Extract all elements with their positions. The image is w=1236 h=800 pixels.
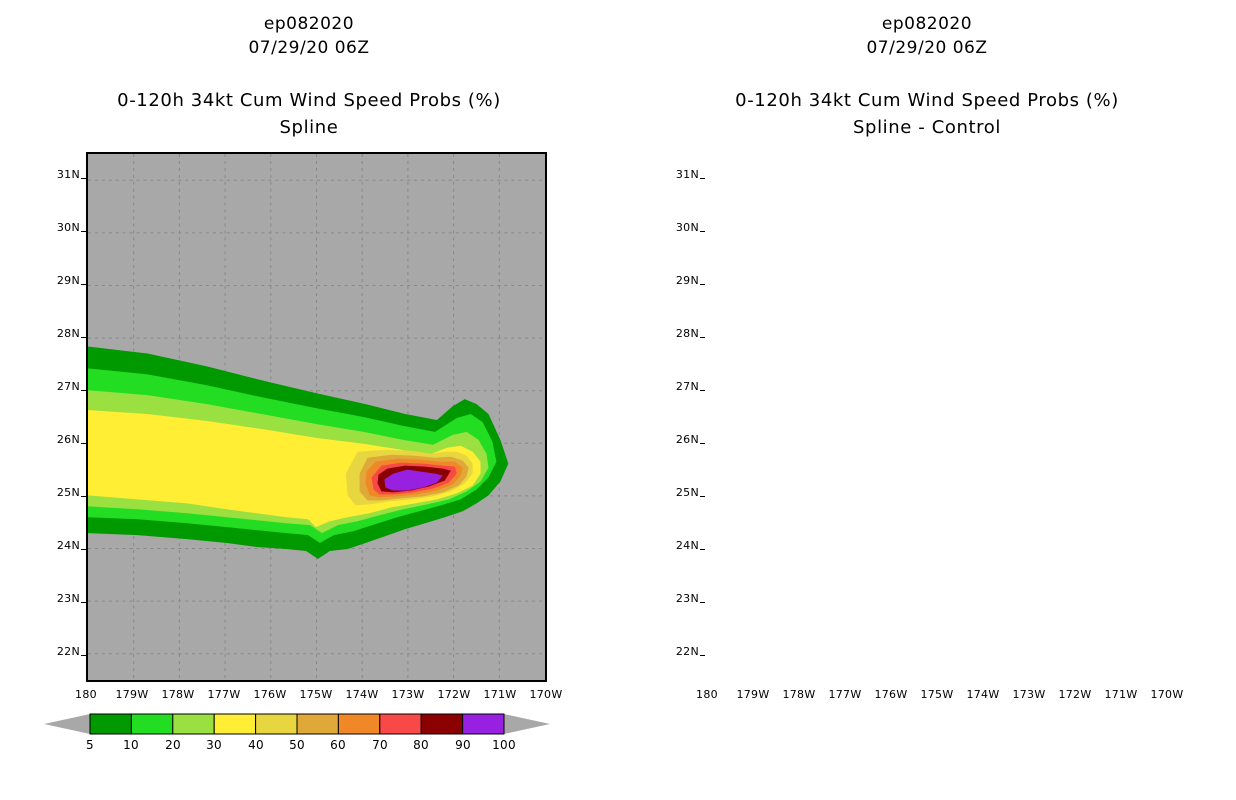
ylabel-right-28n: 28N (653, 327, 699, 340)
ytick-28n (81, 337, 86, 338)
valid-time-right: 07/29/20 06Z (618, 38, 1236, 58)
ylabel-26n: 26N (34, 433, 80, 446)
xlabel-174w: 174W (337, 688, 387, 701)
contour-field-spline (88, 154, 545, 680)
ytick-right-29n (700, 284, 705, 285)
ylabel-right-22n: 22N (653, 645, 699, 658)
cb-tick-40: 40 (236, 738, 276, 752)
ylabel-24n: 24N (34, 539, 80, 552)
cb-tick-20: 20 (153, 738, 193, 752)
cb-tick-30: 30 (194, 738, 234, 752)
plot-subtitle-right: Spline - Control (618, 117, 1236, 138)
xlabel-right-170w: 170W (1142, 688, 1192, 701)
ytick-24n (81, 549, 86, 550)
ylabel-23n: 23N (34, 592, 80, 605)
ytick-25n (81, 496, 86, 497)
xlabel-right-178w: 178W (774, 688, 824, 701)
ytick-right-24n (700, 549, 705, 550)
cb-tick-100: 100 (484, 738, 524, 752)
plot-title-left: 0-120h 34kt Cum Wind Speed Probs (%) (0, 90, 618, 111)
storm-id-right: ep082020 (618, 14, 1236, 34)
xlabel-180: 180 (61, 688, 111, 701)
ytick-right-27n (700, 390, 705, 391)
cb-tick-50: 50 (277, 738, 317, 752)
ylabel-29n: 29N (34, 274, 80, 287)
xlabel-right-175w: 175W (912, 688, 962, 701)
xlabel-177w: 177W (199, 688, 249, 701)
ytick-26n (81, 443, 86, 444)
ylabel-right-30n: 30N (653, 221, 699, 234)
colorbar-swatches-left (44, 712, 550, 736)
ytick-31n (81, 178, 86, 179)
ytick-right-28n (700, 337, 705, 338)
xlabel-172w: 172W (429, 688, 479, 701)
xlabel-right-177w: 177W (820, 688, 870, 701)
cb-tick-70: 70 (360, 738, 400, 752)
map-plot-spline[interactable] (86, 152, 547, 682)
cb-tick-5: 5 (70, 738, 110, 752)
ylabel-right-24n: 24N (653, 539, 699, 552)
ytick-right-31n (700, 178, 705, 179)
xlabel-right-173w: 173W (1004, 688, 1054, 701)
ytick-right-22n (700, 655, 705, 656)
ylabel-right-27n: 27N (653, 380, 699, 393)
plot-title-right: 0-120h 34kt Cum Wind Speed Probs (%) (618, 90, 1236, 111)
xlabel-170w: 170W (521, 688, 571, 701)
panel-spline-minus-control: ep082020 07/29/20 06Z 0-120h 34kt Cum Wi… (618, 0, 1236, 800)
plot-subtitle-left: Spline (0, 117, 618, 138)
ytick-27n (81, 390, 86, 391)
ylabel-31n: 31N (34, 168, 80, 181)
cb-tick-80: 80 (401, 738, 441, 752)
xlabel-right-171w: 171W (1096, 688, 1146, 701)
ylabel-right-26n: 26N (653, 433, 699, 446)
ylabel-right-31n: 31N (653, 168, 699, 181)
ytick-right-26n (700, 443, 705, 444)
ylabel-30n: 30N (34, 221, 80, 234)
ytick-23n (81, 602, 86, 603)
valid-time-left: 07/29/20 06Z (0, 38, 618, 58)
colorbar-probability[interactable]: 5 10 20 30 40 50 60 70 80 90 100 (44, 712, 550, 758)
xlabel-right-176w: 176W (866, 688, 916, 701)
ylabel-28n: 28N (34, 327, 80, 340)
xlabel-right-174w: 174W (958, 688, 1008, 701)
panel-spline: ep082020 07/29/20 06Z 0-120h 34kt Cum Wi… (0, 0, 618, 800)
xlabel-right-180: 180 (682, 688, 732, 701)
ylabel-22n: 22N (34, 645, 80, 658)
xlabel-178w: 178W (153, 688, 203, 701)
xlabel-176w: 176W (245, 688, 295, 701)
ytick-right-25n (700, 496, 705, 497)
ytick-29n (81, 284, 86, 285)
cb-tick-90: 90 (443, 738, 483, 752)
ylabel-25n: 25N (34, 486, 80, 499)
ytick-right-30n (700, 231, 705, 232)
cb-tick-10: 10 (111, 738, 151, 752)
xlabel-179w: 179W (107, 688, 157, 701)
xlabel-right-172w: 172W (1050, 688, 1100, 701)
ytick-right-23n (700, 602, 705, 603)
ylabel-27n: 27N (34, 380, 80, 393)
xlabel-171w: 171W (475, 688, 525, 701)
ylabel-right-25n: 25N (653, 486, 699, 499)
cb-tick-60: 60 (318, 738, 358, 752)
storm-id-left: ep082020 (0, 14, 618, 34)
xlabel-right-179w: 179W (728, 688, 778, 701)
ytick-30n (81, 231, 86, 232)
ytick-22n (81, 655, 86, 656)
ylabel-right-23n: 23N (653, 592, 699, 605)
xlabel-173w: 173W (383, 688, 433, 701)
xlabel-175w: 175W (291, 688, 341, 701)
ylabel-right-29n: 29N (653, 274, 699, 287)
